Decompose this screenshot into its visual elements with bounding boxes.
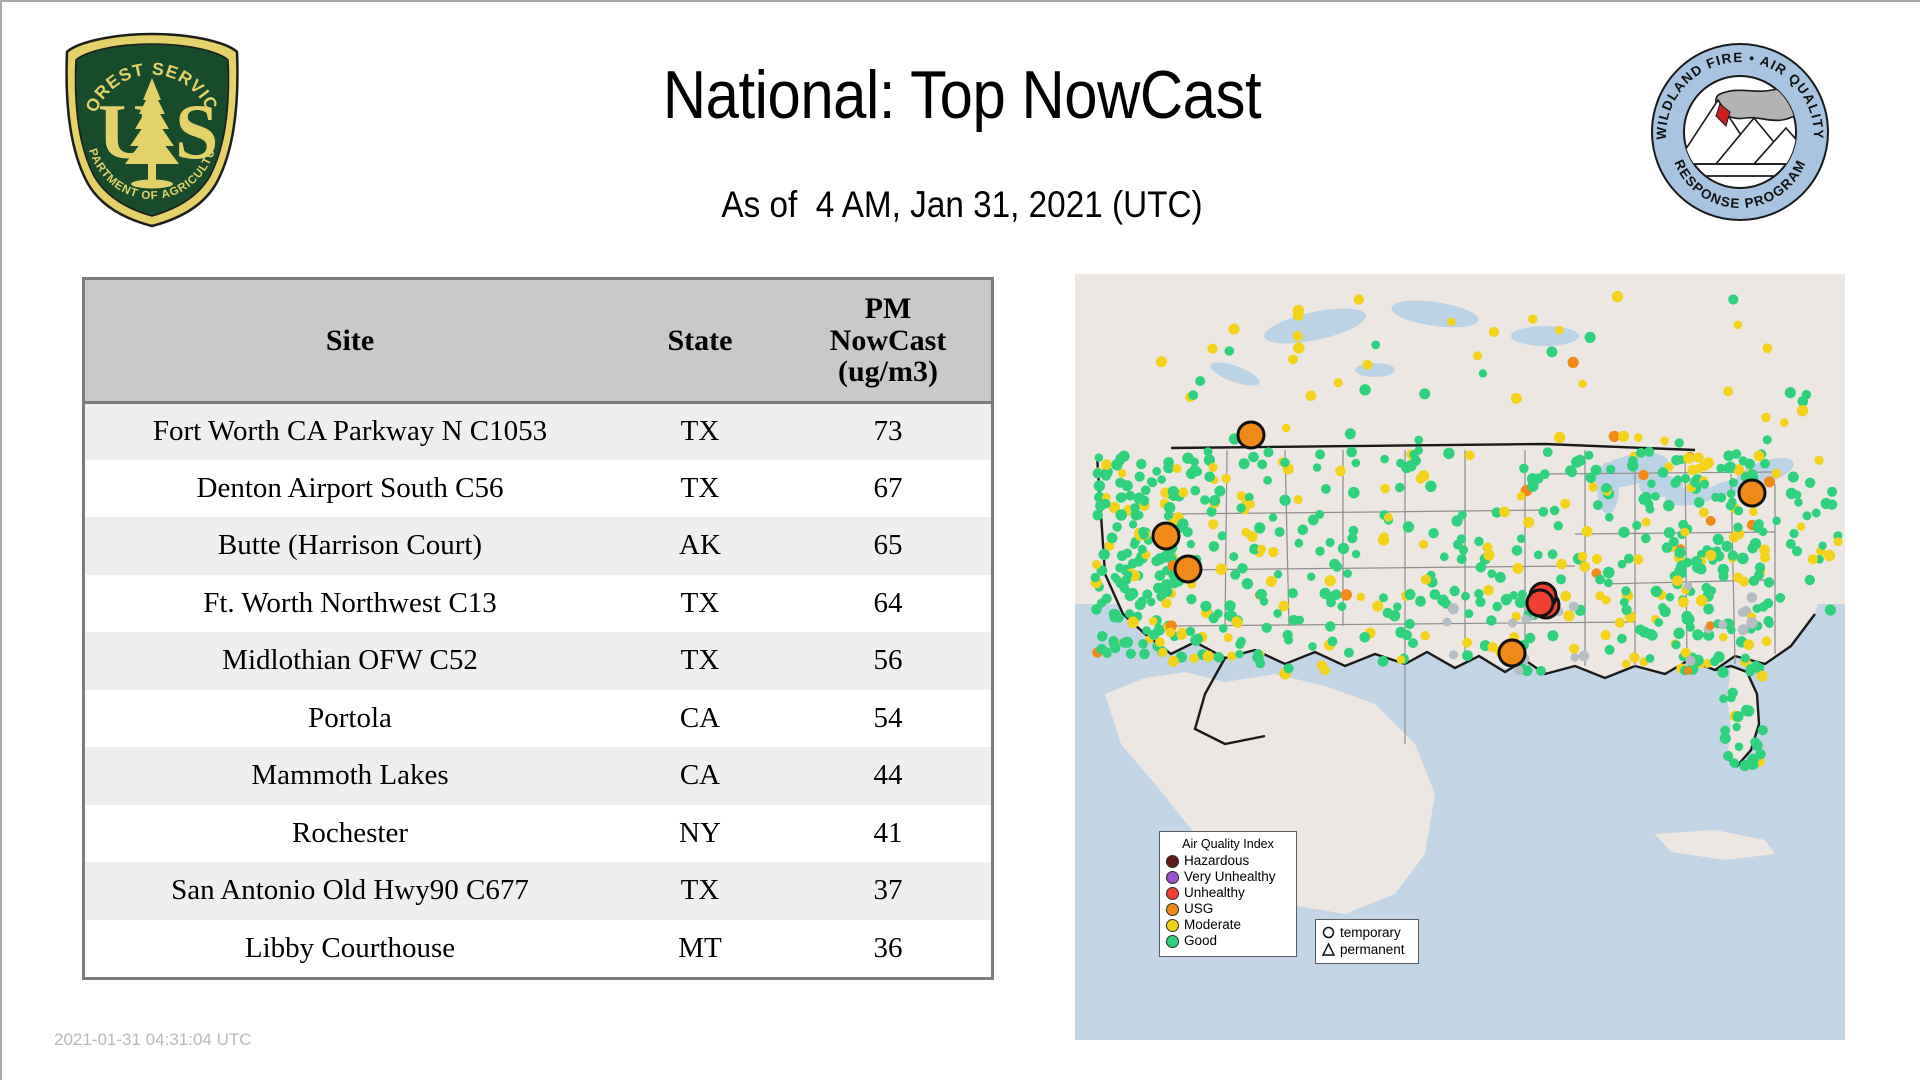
monitor-dot	[1696, 595, 1708, 607]
monitor-dot	[1593, 500, 1603, 510]
monitor-dot	[1307, 573, 1315, 581]
monitor-dot	[1681, 528, 1690, 537]
monitor-dot	[1293, 342, 1304, 353]
monitor-dot	[1193, 467, 1202, 476]
legend-item-permanent: permanent	[1322, 941, 1413, 958]
monitor-dot	[1757, 671, 1768, 682]
monitor-dot	[1378, 656, 1389, 667]
monitor-dot	[1405, 619, 1415, 629]
top-nowcast-table: Site State PM NowCast (ug/m3) Fort Worth…	[85, 280, 991, 977]
monitor-dot	[1328, 637, 1338, 647]
monitor-dot	[1718, 564, 1729, 575]
monitor-dot	[1808, 554, 1818, 564]
monitor-dot	[1213, 652, 1224, 663]
monitor-dot	[1352, 550, 1360, 558]
monitor-dot	[1457, 534, 1466, 543]
aqi-legend: Air Quality Index HazardousVery Unhealth…	[1159, 831, 1297, 957]
monitor-dot	[1647, 479, 1656, 488]
column-header-site[interactable]: Site	[85, 280, 615, 402]
highlighted-site-marker[interactable]: Libby Courthouse	[1238, 422, 1264, 448]
aqi-legend-label: Good	[1184, 933, 1217, 949]
monitor-dot	[1556, 574, 1566, 584]
monitor-dot	[1582, 526, 1593, 537]
monitor-dot	[1786, 488, 1797, 499]
monitor-dot	[1624, 554, 1634, 564]
monitor-dot	[1473, 351, 1482, 360]
monitor-dot	[1754, 519, 1764, 529]
cell-site: San Antonio Old Hwy90 C677	[85, 862, 615, 920]
highlighted-site-marker[interactable]: San Antonio Old Hwy90 C677	[1499, 640, 1525, 666]
monitor-dot	[1663, 500, 1674, 511]
table-row[interactable]: Ft. Worth Northwest C13TX64	[85, 575, 991, 633]
monitor-dot	[1138, 639, 1148, 649]
monitor-dot	[1410, 450, 1419, 459]
monitor-dot	[1378, 534, 1389, 545]
monitor-dot	[1321, 484, 1331, 494]
monitor-dot	[1534, 551, 1543, 560]
monitor-dot	[1425, 481, 1436, 492]
monitor-dot	[1638, 470, 1648, 480]
monitor-dot	[1654, 618, 1663, 627]
monitor-dot	[1395, 627, 1406, 638]
monitor-dot	[1555, 326, 1564, 335]
monitor-dot	[1458, 511, 1467, 520]
legend-item-temporary: temporary	[1322, 924, 1413, 941]
cell-pm-nowcast: 65	[785, 517, 991, 575]
monitor-dot	[1345, 428, 1356, 439]
monitor-dot	[1602, 596, 1611, 605]
monitor-dot	[1515, 597, 1526, 608]
monitor-dot	[1130, 503, 1140, 513]
monitor-dot	[1225, 346, 1235, 356]
monitor-dot	[1395, 483, 1405, 493]
monitor-dot	[1681, 474, 1690, 483]
monitor-dot	[1379, 593, 1388, 602]
monitor-dot	[1628, 456, 1638, 466]
table-row[interactable]: Mammoth LakesCA44	[85, 747, 991, 805]
monitor-dot	[1357, 593, 1365, 601]
monitor-dot	[1702, 583, 1712, 593]
monitor-dot	[1719, 694, 1728, 703]
monitor-dot	[1621, 586, 1630, 595]
monitor-dot	[1729, 478, 1738, 487]
monitor-dot	[1651, 492, 1660, 501]
monitor-dot	[1384, 513, 1393, 522]
monitor-dot	[1282, 497, 1291, 506]
monitor-dot	[1177, 628, 1188, 639]
monitor-dot	[1762, 636, 1772, 646]
monitor-dot	[1190, 486, 1200, 496]
monitor-dot	[1315, 449, 1325, 459]
monitor-dot	[1763, 435, 1772, 444]
monitor-dot	[1717, 493, 1727, 503]
monitor-dot	[1699, 508, 1709, 518]
cell-state: TX	[615, 632, 785, 690]
monitor-dot	[1190, 635, 1201, 646]
monitor-dot	[1397, 655, 1406, 664]
cell-pm-nowcast: 37	[785, 862, 991, 920]
monitor-dot	[1204, 472, 1215, 483]
cell-site: Denton Airport South C56	[85, 460, 615, 518]
cell-site: Fort Worth CA Parkway N C1053	[85, 402, 615, 460]
monitor-dot	[1136, 459, 1146, 469]
monitor-dot	[1209, 541, 1220, 552]
monitor-dot	[1393, 602, 1402, 611]
monitor-dot	[1563, 610, 1574, 621]
monitor-dot	[1294, 539, 1303, 548]
cell-state: CA	[615, 747, 785, 805]
table-body: Fort Worth CA Parkway N C1053TX73Denton …	[85, 402, 991, 977]
monitor-dot	[1295, 616, 1304, 625]
monitor-dot	[1660, 437, 1669, 446]
monitor-dot	[1729, 758, 1739, 768]
monitor-dot	[1738, 608, 1747, 617]
air-quality-monitor-map[interactable]: Fort Worth CA Parkway N C1053Denton Airp…	[1075, 274, 1845, 1040]
monitor-dot	[1443, 617, 1452, 626]
monitor-dot	[1644, 499, 1653, 508]
monitor-dot	[1155, 637, 1165, 647]
cell-state: TX	[615, 460, 785, 518]
highlighted-site-marker[interactable]: Mammoth Lakes	[1175, 556, 1201, 582]
cell-site: Libby Courthouse	[85, 920, 615, 978]
monitor-dot	[1789, 529, 1798, 538]
monitor-dot	[1263, 476, 1272, 485]
aqi-color-swatch-icon	[1166, 871, 1179, 884]
monitor-dot	[1764, 577, 1774, 587]
monitor-dot	[1352, 459, 1361, 468]
monitor-dot	[1705, 550, 1716, 561]
monitor-dot	[1341, 589, 1352, 600]
monitor-dot	[1247, 531, 1258, 542]
monitor-dot	[1713, 651, 1724, 662]
monitor-dot	[1337, 602, 1346, 611]
wildland-fire-air-quality-seal-logo: WILDLAND FIRE • AIR QUALITY RESPONSE PRO…	[1650, 42, 1830, 222]
monitor-dot	[1127, 617, 1139, 629]
monitor-dot	[1313, 463, 1322, 472]
monitor-dot	[1117, 492, 1127, 502]
table-header: Site State PM NowCast (ug/m3)	[85, 280, 991, 402]
monitor-dot	[1126, 649, 1136, 659]
table-row[interactable]: Fort Worth CA Parkway N C1053TX73	[85, 402, 991, 460]
monitor-dot	[1157, 475, 1166, 484]
monitor-dot	[1764, 476, 1775, 487]
cell-site: Midlothian OFW C52	[85, 632, 615, 690]
aqi-color-swatch-icon	[1166, 903, 1179, 916]
monitor-dot	[1101, 471, 1111, 481]
monitor-dot	[1738, 624, 1749, 635]
monitor-dot	[1221, 474, 1230, 483]
monitor-dot	[1269, 513, 1277, 521]
monitor-dot	[1447, 318, 1455, 326]
monitor-dot	[1825, 604, 1836, 615]
monitor-dot	[1465, 450, 1475, 460]
monitor-dot	[1639, 627, 1650, 638]
monitor-dot	[1805, 478, 1815, 488]
monitor-dot	[1405, 460, 1416, 471]
monitor-dot	[1107, 533, 1118, 544]
column-header-pm-line3: (ug/m3)	[789, 356, 987, 387]
monitor-dot	[1605, 645, 1615, 655]
monitor-dot	[1188, 390, 1198, 400]
monitor-dot	[1772, 469, 1782, 479]
cell-site: Mammoth Lakes	[85, 747, 615, 805]
monitor-dot	[1755, 562, 1765, 572]
highlighted-site-marker[interactable]: Ft. Worth Northwest C13	[1527, 590, 1553, 616]
aqi-legend-label: Very Unhealthy	[1184, 869, 1276, 885]
monitor-dot	[1692, 629, 1703, 640]
monitor-dot	[1670, 478, 1680, 488]
monitor-dot	[1354, 294, 1364, 304]
cell-pm-nowcast: 36	[785, 920, 991, 978]
monitor-dot	[1554, 432, 1565, 443]
monitor-dot	[1135, 599, 1146, 610]
legend-label-temporary: temporary	[1340, 924, 1401, 941]
monitor-dot	[1091, 573, 1100, 582]
monitor-dot	[1612, 291, 1623, 302]
column-header-state[interactable]: State	[615, 280, 785, 402]
monitor-dot	[1418, 470, 1429, 481]
monitor-dot	[1408, 638, 1418, 648]
monitor-dot	[1173, 464, 1182, 473]
monitor-dot	[1253, 649, 1262, 658]
monitor-dot	[1634, 433, 1643, 442]
monitor-dot	[1153, 583, 1164, 594]
monitor-dot	[1117, 478, 1126, 487]
aqi-legend-item: USG	[1166, 901, 1290, 917]
monitor-dot	[1737, 553, 1749, 565]
monitor-dot	[1479, 369, 1487, 377]
monitor-dot	[1164, 502, 1175, 513]
monitor-dot	[1746, 664, 1756, 674]
monitor-dot	[1741, 654, 1750, 663]
table-row[interactable]: Denton Airport South C56TX67	[85, 460, 991, 518]
monitor-dot	[1499, 507, 1510, 518]
monitor-dot	[1797, 405, 1808, 416]
monitor-dot	[1827, 499, 1837, 509]
monitor-dot	[1797, 522, 1805, 530]
monitor-dot	[1483, 585, 1494, 596]
monitor-dot	[1618, 527, 1629, 538]
monitor-dot	[1135, 472, 1145, 482]
monitor-dot	[1421, 631, 1430, 640]
highlighted-site-marker[interactable]: Portola	[1153, 523, 1179, 549]
monitor-dot	[1747, 469, 1758, 480]
monitor-dot	[1414, 436, 1423, 445]
monitor-dot	[1547, 630, 1558, 641]
monitor-dot	[1359, 632, 1370, 643]
aqi-legend-label: Moderate	[1184, 917, 1241, 933]
monitor-dot	[1325, 575, 1336, 586]
monitor-dot	[1228, 324, 1239, 335]
monitor-dot	[1749, 508, 1758, 517]
monitor-dot	[1658, 467, 1669, 478]
monitor-dot	[1671, 455, 1681, 465]
aqi-color-swatch-icon	[1166, 887, 1179, 900]
monitor-dot	[1492, 602, 1502, 612]
table-row[interactable]: San Antonio Old Hwy90 C677TX37	[85, 862, 991, 920]
monitor-dot	[1642, 518, 1651, 527]
monitor-dot	[1348, 487, 1360, 499]
monitor-dot	[1601, 630, 1611, 640]
legend-label-permanent: permanent	[1340, 941, 1405, 958]
monitor-dot	[1574, 455, 1585, 466]
table-row[interactable]: PortolaCA54	[85, 690, 991, 748]
aqi-legend-item: Unhealthy	[1166, 885, 1290, 901]
monitor-dot	[1723, 386, 1733, 396]
monitor-dot	[1750, 538, 1761, 549]
monitor-dot	[1315, 547, 1324, 556]
monitor-dot	[1720, 733, 1731, 744]
monitor-dot	[1246, 500, 1255, 509]
monitor-dot	[1727, 489, 1736, 498]
monitor-dot	[1138, 527, 1148, 537]
monitor-dot	[1578, 380, 1586, 388]
monitor-dot	[1130, 540, 1139, 549]
monitor-dot	[1803, 511, 1812, 520]
column-header-pm-line1: PM	[789, 293, 987, 324]
monitor-dot	[1419, 540, 1428, 549]
monitor-dot	[1603, 567, 1615, 579]
monitor-dot	[1155, 570, 1166, 581]
monitor-dot	[1513, 563, 1524, 574]
monitor-dot	[1674, 547, 1685, 558]
monitor-dot	[1116, 509, 1128, 521]
monitor-dot	[1166, 628, 1176, 638]
monitor-dot	[1440, 552, 1449, 561]
highlighted-site-marker[interactable]: Rochester	[1739, 480, 1765, 506]
monitor-dot	[1517, 492, 1526, 501]
monitor-dot	[1718, 620, 1727, 629]
monitor-dot	[1578, 552, 1588, 562]
monitor-dot	[1483, 542, 1493, 552]
monitor-dot	[1568, 357, 1579, 368]
monitor-dot	[1112, 522, 1122, 532]
monitor-dot	[1735, 742, 1744, 751]
monitor-dot	[1102, 594, 1112, 604]
monitor-dot	[1224, 611, 1233, 620]
monitor-dot	[1274, 570, 1282, 578]
monitor-dot	[1102, 647, 1110, 655]
monitor-dot	[1622, 660, 1630, 668]
monitor-dot	[1230, 570, 1240, 580]
aqi-legend-label: USG	[1184, 901, 1213, 917]
monitor-dot	[1317, 660, 1327, 670]
monitor-dot	[1543, 447, 1553, 457]
monitor-dot	[1617, 634, 1627, 644]
monitor-dot	[1785, 387, 1796, 398]
monitor-dot	[1746, 617, 1758, 629]
monitor-dot	[1448, 603, 1459, 614]
monitor-dot	[1734, 321, 1743, 330]
monitor-dot	[1156, 356, 1167, 367]
cell-site: Portola	[85, 690, 615, 748]
aqi-legend-item: Very Unhealthy	[1166, 869, 1290, 885]
monitor-dot	[1293, 331, 1303, 341]
monitor-dot	[1195, 376, 1205, 386]
column-header-pm-nowcast[interactable]: PM NowCast (ug/m3)	[785, 280, 991, 402]
monitor-dot	[1818, 542, 1826, 550]
monitor-dot	[1786, 539, 1796, 549]
monitor-dot	[1489, 327, 1499, 337]
monitor-dot	[1744, 459, 1755, 470]
monitor-dot	[1209, 613, 1219, 623]
us-forest-service-shield-logo: FOREST SERVICE DEPARTMENT OF AGRICULTURE…	[57, 30, 247, 230]
cell-site: Butte (Harrison Court)	[85, 517, 615, 575]
monitor-dot	[1263, 447, 1273, 457]
monitor-dot	[1231, 616, 1242, 627]
monitor-dot	[1605, 513, 1614, 522]
monitor-dot	[1674, 566, 1684, 576]
cell-state: CA	[615, 690, 785, 748]
monitor-dot	[1560, 499, 1570, 509]
monitor-dot	[1459, 545, 1468, 554]
monitor-dot	[1182, 453, 1193, 464]
table-row[interactable]: Midlothian OFW C52TX56	[85, 632, 991, 690]
monitor-dot	[1335, 466, 1346, 477]
page-title: National: Top NowCast	[381, 58, 1543, 132]
monitor-dot	[1280, 458, 1289, 467]
svg-text:S: S	[175, 88, 218, 175]
monitor-dot	[1127, 588, 1138, 599]
monitor-dot	[1227, 651, 1236, 660]
monitor-dot	[1495, 572, 1506, 583]
table-row[interactable]: Butte (Harrison Court)AK65	[85, 517, 991, 575]
monitor-dot	[1464, 609, 1473, 618]
monitor-dot	[1118, 469, 1127, 478]
monitor-dot	[1224, 600, 1235, 611]
monitor-dot	[1743, 639, 1754, 650]
monitor-dot	[1278, 601, 1289, 612]
monitor-dot	[1693, 452, 1703, 462]
monitor-dot	[1673, 628, 1684, 639]
monitor-dot	[1139, 496, 1149, 506]
cell-pm-nowcast: 67	[785, 460, 991, 518]
monitor-dot	[1293, 305, 1304, 316]
monitor-dot	[1168, 486, 1179, 497]
monitor-dot	[1203, 651, 1214, 662]
monitor-dot	[1554, 521, 1563, 530]
monitor-dot	[1486, 615, 1496, 625]
monitor-dot	[1115, 563, 1124, 572]
monitor-dot	[1805, 575, 1815, 585]
monitor-dot	[1728, 294, 1738, 304]
monitor-dot	[1457, 554, 1467, 564]
monitor-dot	[1706, 516, 1716, 526]
cell-pm-nowcast: 64	[785, 575, 991, 633]
monitor-dot	[1149, 617, 1158, 626]
monitor-dot	[1716, 464, 1725, 473]
table-row[interactable]: RochesterNY41	[85, 805, 991, 863]
monitor-dot	[1248, 452, 1259, 463]
aqi-legend-label: Unhealthy	[1184, 885, 1245, 901]
monitor-dot	[1245, 493, 1254, 502]
monitor-dot	[1209, 495, 1220, 506]
monitor-dot	[1242, 579, 1252, 589]
monitor-dot	[1675, 438, 1684, 447]
table-row[interactable]: Libby CourthouseMT36	[85, 920, 991, 978]
monitor-dot	[1633, 554, 1643, 564]
monitor-dot	[1664, 527, 1675, 538]
monitor-type-legend: temporary permanent	[1315, 919, 1419, 964]
monitor-dot	[1726, 461, 1736, 471]
monitor-dot	[1762, 343, 1772, 353]
monitor-dot	[1129, 520, 1137, 528]
monitor-dot	[1815, 456, 1824, 465]
monitor-dot	[1684, 582, 1693, 591]
monitor-dot	[1254, 522, 1265, 533]
monitor-dot	[1721, 541, 1732, 552]
monitor-dot	[1256, 589, 1267, 600]
